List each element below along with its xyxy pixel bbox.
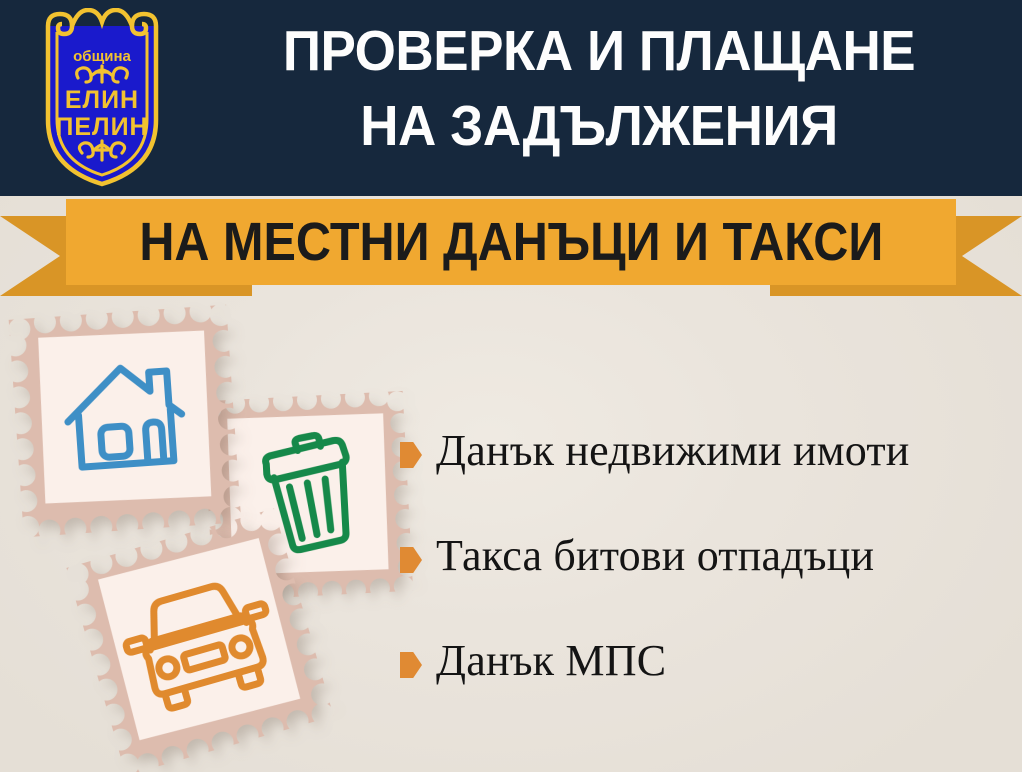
arrow-bullet-icon xyxy=(400,547,422,573)
crest-line1: община xyxy=(73,48,131,65)
crest-line3: ПЕЛИН xyxy=(55,113,148,141)
page-title: ПРОВЕРКА И ПЛАЩАНЕ НА ЗАДЪЛЖЕНИЯ xyxy=(219,14,980,164)
crest-line2: ЕЛИН xyxy=(65,86,139,114)
arrow-bullet-icon xyxy=(400,652,422,678)
property-stamp-frame xyxy=(9,305,242,538)
ribbon-bar: НА МЕСТНИ ДАНЪЦИ И ТАКСИ xyxy=(66,199,956,285)
list-item-label: Такса битови отпадъци xyxy=(436,529,874,583)
property-stamp-card xyxy=(9,305,242,538)
coat-of-arms: община ЕЛИН ПЕЛИН xyxy=(26,8,178,190)
poster-root: ПРОВЕРКА И ПЛАЩАНЕ НА ЗАДЪЛЖЕНИЯ община xyxy=(0,0,1022,772)
list-item-label: Данък недвижими имоти xyxy=(436,424,910,478)
list-item-label: Данък МПС xyxy=(436,634,666,688)
list-item: Данък МПС xyxy=(400,634,1010,739)
ribbon-label: НА МЕСТНИ ДАНЪЦИ И ТАКСИ xyxy=(139,215,883,269)
list-item: Данък недвижими имоти xyxy=(400,424,1010,529)
subtitle-ribbon: НА МЕСТНИ ДАНЪЦИ И ТАКСИ xyxy=(0,196,1022,300)
arrow-bullet-icon xyxy=(400,442,422,468)
list-item: Такса битови отпадъци xyxy=(400,529,1010,634)
tax-type-list: Данък недвижими имоти Такса битови отпад… xyxy=(400,424,1010,739)
